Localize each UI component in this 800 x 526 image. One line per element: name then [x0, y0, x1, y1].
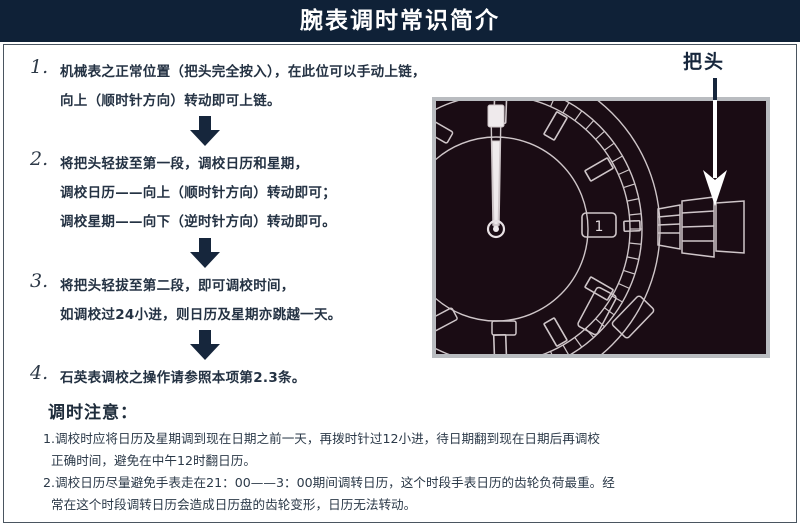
flow-arrow-1 — [190, 116, 220, 146]
step-3-line-1: 将把头轻拔至第二段，即可调校时间， — [60, 272, 342, 301]
step-2-line-3: 调校星期——向下（逆时针方向）转动即可。 — [60, 208, 336, 237]
step-2-line-1: 将把头轻拔至第一段，调校日历和星期， — [60, 150, 336, 179]
crown-callout-label: 把头 — [683, 47, 725, 74]
flow-arrow-3 — [190, 330, 220, 360]
step-4-lines: 石英表调校之操作请参照本项第2.3条。 — [60, 364, 306, 393]
step-1-line-2: 向上（顺时针方向）转动即可上链。 — [60, 87, 426, 116]
note-item-2: 2.调校日历尽量避免手表走在21：00——3：00期间调转日历，这个时段手表日历… — [43, 472, 778, 516]
instruction-card: 腕表调时常识简介 1. 机械表之正常位置（把头完全按入），在此位可以手动上链， … — [0, 0, 800, 526]
step-1-number: 1. — [30, 56, 56, 78]
flow-arrow-head — [190, 344, 220, 360]
note-2-line-1: 2.调校日历尽量避免手表走在21：00——3：00期间调转日历，这个时段手表日历… — [43, 472, 778, 494]
date-window-value: 1 — [595, 219, 604, 235]
step-1-lines: 机械表之正常位置（把头完全按入），在此位可以手动上链， 向上（顺时针方向）转动即… — [60, 58, 426, 116]
note-2-line-2: 常在这个时段调转日历会造成日历盘的齿轮变形，日历无法转动。 — [43, 494, 778, 516]
step-3-line-2: 如调校过24小进，则日历及星期亦跳越一天。 — [60, 301, 342, 330]
flow-arrow-head — [190, 252, 220, 268]
step-2-lines: 将把头轻拔至第一段，调校日历和星期， 调校日历——向上（顺时针方向）转动即可； … — [60, 150, 336, 237]
step-2-line-2: 调校日历——向上（顺时针方向）转动即可； — [60, 179, 336, 208]
note-1-line-2: 正确时间，避免在中午12时翻日历。 — [43, 450, 778, 472]
note-item-1: 1.调校时应将日历及星期调到现在日期之前一天，再拨时针过12小进，待日期翻到现在… — [43, 428, 778, 472]
page-title: 腕表调时常识简介 — [0, 0, 800, 42]
flow-arrow-head — [190, 130, 220, 146]
step-3-number: 3. — [30, 270, 56, 292]
step-4-line-1: 石英表调校之操作请参照本项第2.3条。 — [60, 364, 306, 393]
notes-section: 调时注意： 1.调校时应将日历及星期调到现在日期之前一天，再拨时针过12小进，待… — [48, 398, 778, 516]
step-4-number: 4. — [30, 362, 56, 384]
step-3-lines: 将把头轻拔至第二段，即可调校时间， 如调校过24小进，则日历及星期亦跳越一天。 — [60, 272, 342, 330]
step-1-line-1: 机械表之正常位置（把头完全按入），在此位可以手动上链， — [60, 58, 426, 87]
crown-callout-arrow — [700, 78, 730, 208]
step-2-number: 2. — [30, 148, 56, 170]
flow-arrow-2 — [190, 238, 220, 268]
note-1-line-1: 1.调校时应将日历及星期调到现在日期之前一天，再拨时针过12小进，待日期翻到现在… — [43, 428, 778, 450]
notes-title: 调时注意： — [48, 398, 778, 423]
